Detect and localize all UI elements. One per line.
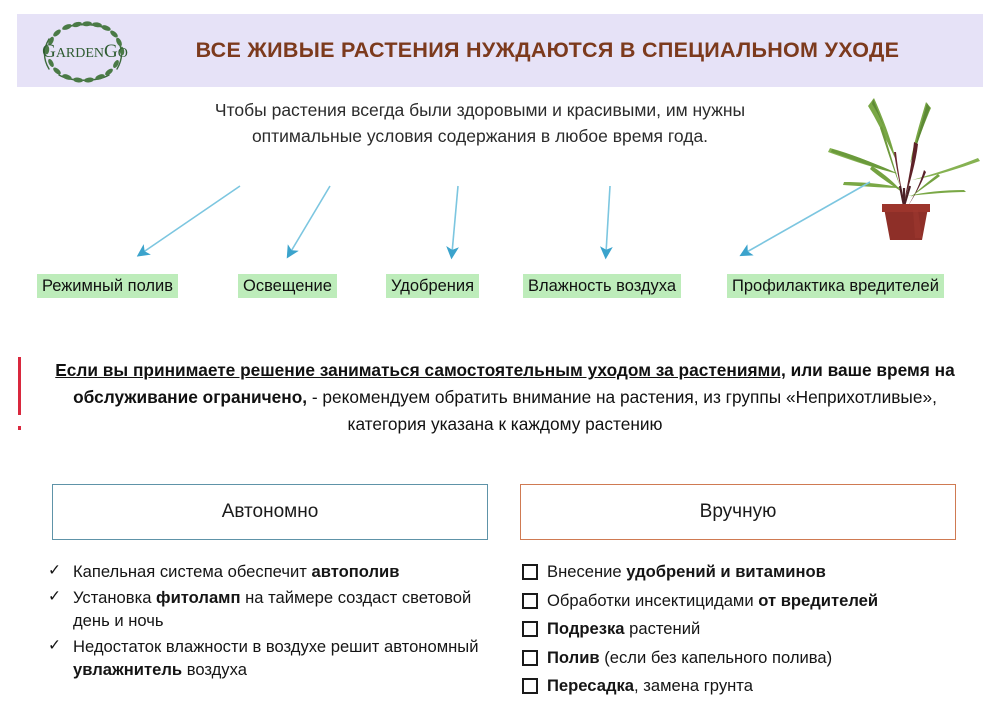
check-icon: ✓ xyxy=(44,635,73,657)
list-item-pre: Обработки инсектицидами xyxy=(547,591,758,610)
list-item: ✓ Недостаток влажности в воздухе решит а… xyxy=(44,635,494,682)
subtitle: Чтобы растения всегда были здоровыми и к… xyxy=(150,97,810,150)
list-item-text: Обработки инсектицидами от вредителей xyxy=(547,589,988,613)
manual-box-title: Вручную xyxy=(700,501,777,523)
manual-list: Внесение удобрений и витаминов Обработки… xyxy=(518,560,988,703)
list-item-post: (если без капельного полива) xyxy=(600,648,833,667)
autonomous-box-title: Автономно xyxy=(222,501,319,523)
checkbox-icon[interactable] xyxy=(518,646,547,673)
plant-pot xyxy=(882,204,930,240)
tag-fertilizers[interactable]: Удобрения xyxy=(386,274,479,298)
list-item-pre: Внесение xyxy=(547,562,626,581)
list-item-text: Подрезка растений xyxy=(547,617,988,641)
plant-stems xyxy=(900,186,910,206)
checkbox-icon[interactable] xyxy=(518,589,547,616)
callout-accent-bar xyxy=(18,357,21,415)
checkbox-icon[interactable] xyxy=(518,674,547,701)
brand-logo-text: GARDENGO xyxy=(42,41,128,62)
list-item-bold: от вредителей xyxy=(758,591,878,610)
list-item: Подрезка растений xyxy=(518,617,988,644)
list-item-bold: автополив xyxy=(312,562,400,581)
arrow-1 xyxy=(142,186,240,253)
manual-box[interactable]: Вручную xyxy=(520,484,956,540)
list-item-pre: Недостаток влажности в воздухе решит авт… xyxy=(73,637,478,656)
list-item-text: Внесение удобрений и витаминов xyxy=(547,560,988,584)
brand-logo[interactable]: GARDENGO xyxy=(17,14,152,87)
list-item: ✓ Установка фитоламп на таймере создаст … xyxy=(44,586,494,633)
callout-text: Если вы принимаете решение заниматься са… xyxy=(40,357,970,437)
callout-accent-dot xyxy=(18,426,21,430)
list-item-text: Установка фитоламп на таймере создаст св… xyxy=(73,586,494,633)
list-item-text: Пересадка, замена грунта xyxy=(547,674,988,698)
list-item-pre: Установка xyxy=(73,588,156,607)
calathea-plant-image xyxy=(818,86,990,248)
autonomous-list: ✓ Капельная система обеспечит автополив … xyxy=(44,560,494,684)
list-item: Полив (если без капельного полива) xyxy=(518,646,988,673)
tag-pest-prevention[interactable]: Профилактика вредителей xyxy=(727,274,944,298)
arrow-2 xyxy=(290,186,330,253)
page-title: ВСЕ ЖИВЫЕ РАСТЕНИЯ НУЖДАЮТСЯ В СПЕЦИАЛЬН… xyxy=(152,38,983,63)
list-item-text: Капельная система обеспечит автополив xyxy=(73,560,494,584)
callout-segment-1: Если вы принимаете решение заниматься са… xyxy=(55,360,786,380)
tag-regular-watering[interactable]: Режимный полив xyxy=(37,274,178,298)
tag-lighting[interactable]: Освещение xyxy=(238,274,337,298)
checkbox-icon[interactable] xyxy=(518,560,547,587)
subtitle-line-2: оптимальные условия содержания в любое в… xyxy=(150,123,810,149)
list-item-bold: увлажнитель xyxy=(73,660,182,679)
list-item-post: растений xyxy=(625,619,701,638)
checkbox-icon[interactable] xyxy=(518,617,547,644)
list-item-post: воздуха xyxy=(182,660,247,679)
list-item-bold: Подрезка xyxy=(547,619,625,638)
subtitle-line-1: Чтобы растения всегда были здоровыми и к… xyxy=(150,97,810,123)
tag-air-humidity[interactable]: Влажность воздуха xyxy=(523,274,681,298)
list-item-post: , замена грунта xyxy=(634,676,753,695)
list-item: Обработки инсектицидами от вредителей xyxy=(518,589,988,616)
laurel-wreath-icon: GARDENGO xyxy=(27,17,143,85)
callout-segment-3: - рекомендуем обратить внимание на расте… xyxy=(307,387,937,434)
list-item: Внесение удобрений и витаминов xyxy=(518,560,988,587)
list-item: ✓ Капельная система обеспечит автополив xyxy=(44,560,494,584)
list-item-bold: Пересадка xyxy=(547,676,634,695)
list-item: Пересадка, замена грунта xyxy=(518,674,988,701)
list-item-bold: фитоламп xyxy=(156,588,240,607)
list-item-bold: удобрений и витаминов xyxy=(626,562,826,581)
care-tags-row: Режимный полив Освещение Удобрения Влажн… xyxy=(0,274,1000,298)
check-icon: ✓ xyxy=(44,586,73,608)
arrow-3 xyxy=(452,186,458,253)
header-band: GARDENGO ВСЕ ЖИВЫЕ РАСТЕНИЯ НУЖДАЮТСЯ В … xyxy=(17,14,983,87)
autonomous-box[interactable]: Автономно xyxy=(52,484,488,540)
list-item-text: Недостаток влажности в воздухе решит авт… xyxy=(73,635,494,682)
arrow-4 xyxy=(606,186,610,253)
list-item-text: Полив (если без капельного полива) xyxy=(547,646,988,670)
list-item-bold: Полив xyxy=(547,648,600,667)
check-icon: ✓ xyxy=(44,560,73,582)
list-item-pre: Капельная система обеспечит xyxy=(73,562,312,581)
